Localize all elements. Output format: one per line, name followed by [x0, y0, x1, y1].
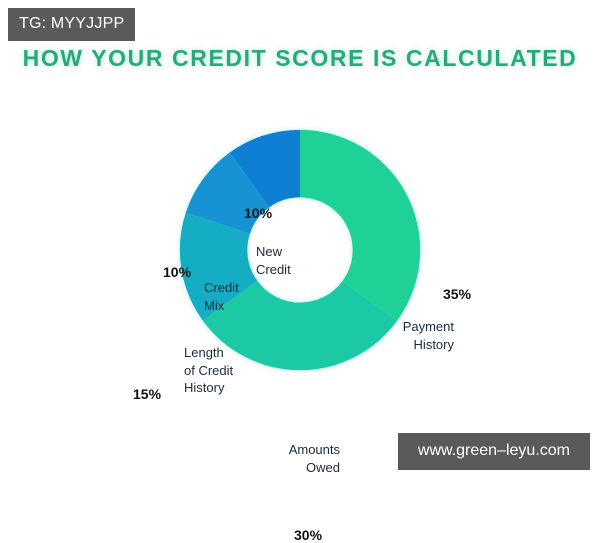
site-watermark: www.green–leyu.com: [398, 433, 590, 470]
slice-label-line: Payment: [380, 318, 454, 336]
slice-label-line: Amounts: [250, 441, 340, 459]
slice-label-line: Mix: [204, 297, 274, 315]
slice-label-line: of Credit: [184, 362, 268, 380]
slice-label-payment-history: Payment History: [380, 318, 454, 353]
slice-label-line: Owed: [250, 459, 340, 477]
slice-label-new-credit: New Credit: [256, 243, 318, 278]
slice-label-amounts-owed: Amounts Owed: [250, 441, 340, 476]
slice-label-line: Credit: [204, 279, 274, 297]
slice-label-line: Credit: [256, 261, 318, 279]
infographic-canvas: TG: MYYJJPP HOW YOUR CREDIT SCORE IS CAL…: [0, 0, 600, 480]
percent-label-new-credit: 10%: [244, 205, 272, 221]
slice-label-line: History: [380, 336, 454, 354]
percent-label-length-of-credit-history: 15%: [133, 386, 161, 402]
percent-label-credit-mix: 10%: [163, 264, 191, 280]
percent-label-amounts-owed: 30%: [294, 527, 322, 543]
slice-label-line: New: [256, 243, 318, 261]
slice-label-credit-mix: Credit Mix: [204, 279, 274, 314]
donut-chart: Payment History Amounts Owed Length of C…: [0, 100, 600, 440]
slice-label-line: Length: [184, 344, 268, 362]
telegram-channel-badge: TG: MYYJJPP: [8, 8, 135, 41]
page-title: HOW YOUR CREDIT SCORE IS CALCULATED: [0, 44, 600, 72]
slice-label-length-of-credit-history: Length of Credit History: [184, 344, 268, 397]
percent-label-payment-history: 35%: [443, 286, 471, 302]
slice-label-line: History: [184, 379, 268, 397]
